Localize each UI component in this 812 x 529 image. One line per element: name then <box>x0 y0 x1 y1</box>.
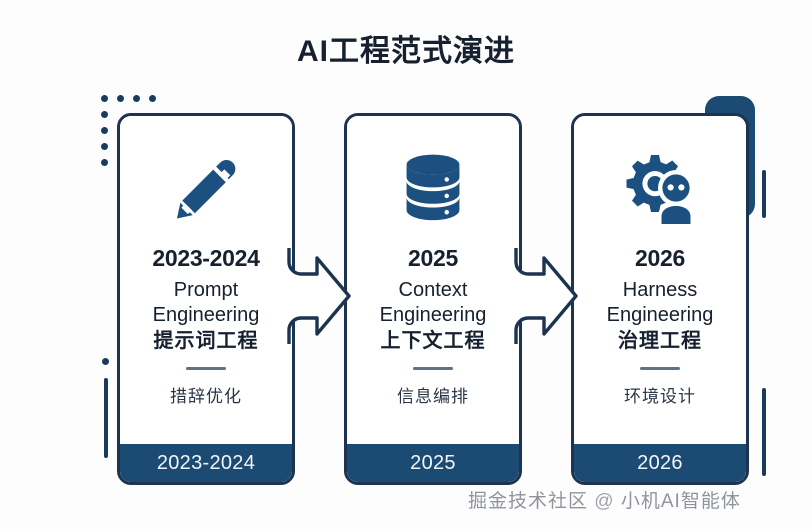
card-title-cn: 提示词工程 <box>154 329 259 354</box>
card-content: 2025 Context Engineering 上下文工程 信息编排 2025 <box>347 116 519 482</box>
watermark-author: 小机AI智能体 <box>621 491 741 512</box>
card-title-en: Harness Engineering <box>603 278 718 327</box>
decorative-dot <box>101 127 108 134</box>
card-year: 2025 <box>408 246 458 271</box>
decorative-line <box>762 170 766 218</box>
card-footer-label: 2025 <box>347 444 519 482</box>
decorative-dot <box>117 95 124 102</box>
gear-person-icon <box>620 146 700 232</box>
decorative-dot <box>101 111 108 118</box>
card-title-en-line2: Engineering <box>607 303 714 327</box>
card-title-cn: 上下文工程 <box>381 329 486 354</box>
decorative-line <box>762 388 766 476</box>
card-footer-label: 2023-2024 <box>120 444 292 482</box>
card-divider <box>186 367 226 370</box>
infographic-stage: 2023-2024 Prompt Engineering 提示词工程 措辞优化 … <box>0 0 812 529</box>
decorative-dot <box>101 143 108 150</box>
card-year: 2023-2024 <box>152 246 259 271</box>
card-title-en-line1: Context <box>380 278 487 302</box>
card-content: 2023-2024 Prompt Engineering 提示词工程 措辞优化 … <box>120 116 292 482</box>
decorative-line <box>104 378 108 458</box>
card-subtitle-cn: 环境设计 <box>624 382 696 407</box>
card-footer-label: 2026 <box>574 444 746 482</box>
card-subtitle-cn: 措辞优化 <box>170 382 242 407</box>
watermark: 掘金技术社区 @ 小机AI智能体 <box>468 486 741 513</box>
card-title-en: Context Engineering <box>376 278 491 327</box>
decorative-dot <box>101 95 108 102</box>
watermark-at: @ <box>594 491 614 512</box>
card-subtitle-cn: 信息编排 <box>397 382 469 407</box>
decorative-dot <box>149 95 156 102</box>
decorative-dot <box>101 159 108 166</box>
database-icon <box>398 146 468 232</box>
card-content: 2026 Harness Engineering 治理工程 环境设计 2026 <box>574 116 746 482</box>
card-title-en: Prompt Engineering <box>149 278 264 327</box>
card-divider <box>640 367 680 370</box>
decorative-dot <box>133 95 140 102</box>
stage-card-2[interactable]: 2025 Context Engineering 上下文工程 信息编排 2025 <box>344 113 522 485</box>
arrow-card1-to-card2 <box>287 248 353 344</box>
card-title-en-line1: Harness <box>607 278 714 302</box>
card-year: 2026 <box>635 246 685 271</box>
stage-card-1[interactable]: 2023-2024 Prompt Engineering 提示词工程 措辞优化 … <box>117 113 295 485</box>
card-divider <box>413 367 453 370</box>
pen-icon <box>170 146 242 232</box>
card-title-cn: 治理工程 <box>618 329 702 354</box>
watermark-source: 掘金技术社区 <box>468 491 588 512</box>
decorative-dot <box>102 358 109 365</box>
stage-card-3[interactable]: 2026 Harness Engineering 治理工程 环境设计 2026 <box>571 113 749 485</box>
card-title-en-line2: Engineering <box>153 303 260 327</box>
card-title-en-line2: Engineering <box>380 303 487 327</box>
arrow-card2-to-card3 <box>514 248 580 344</box>
card-title-en-line1: Prompt <box>153 278 260 302</box>
